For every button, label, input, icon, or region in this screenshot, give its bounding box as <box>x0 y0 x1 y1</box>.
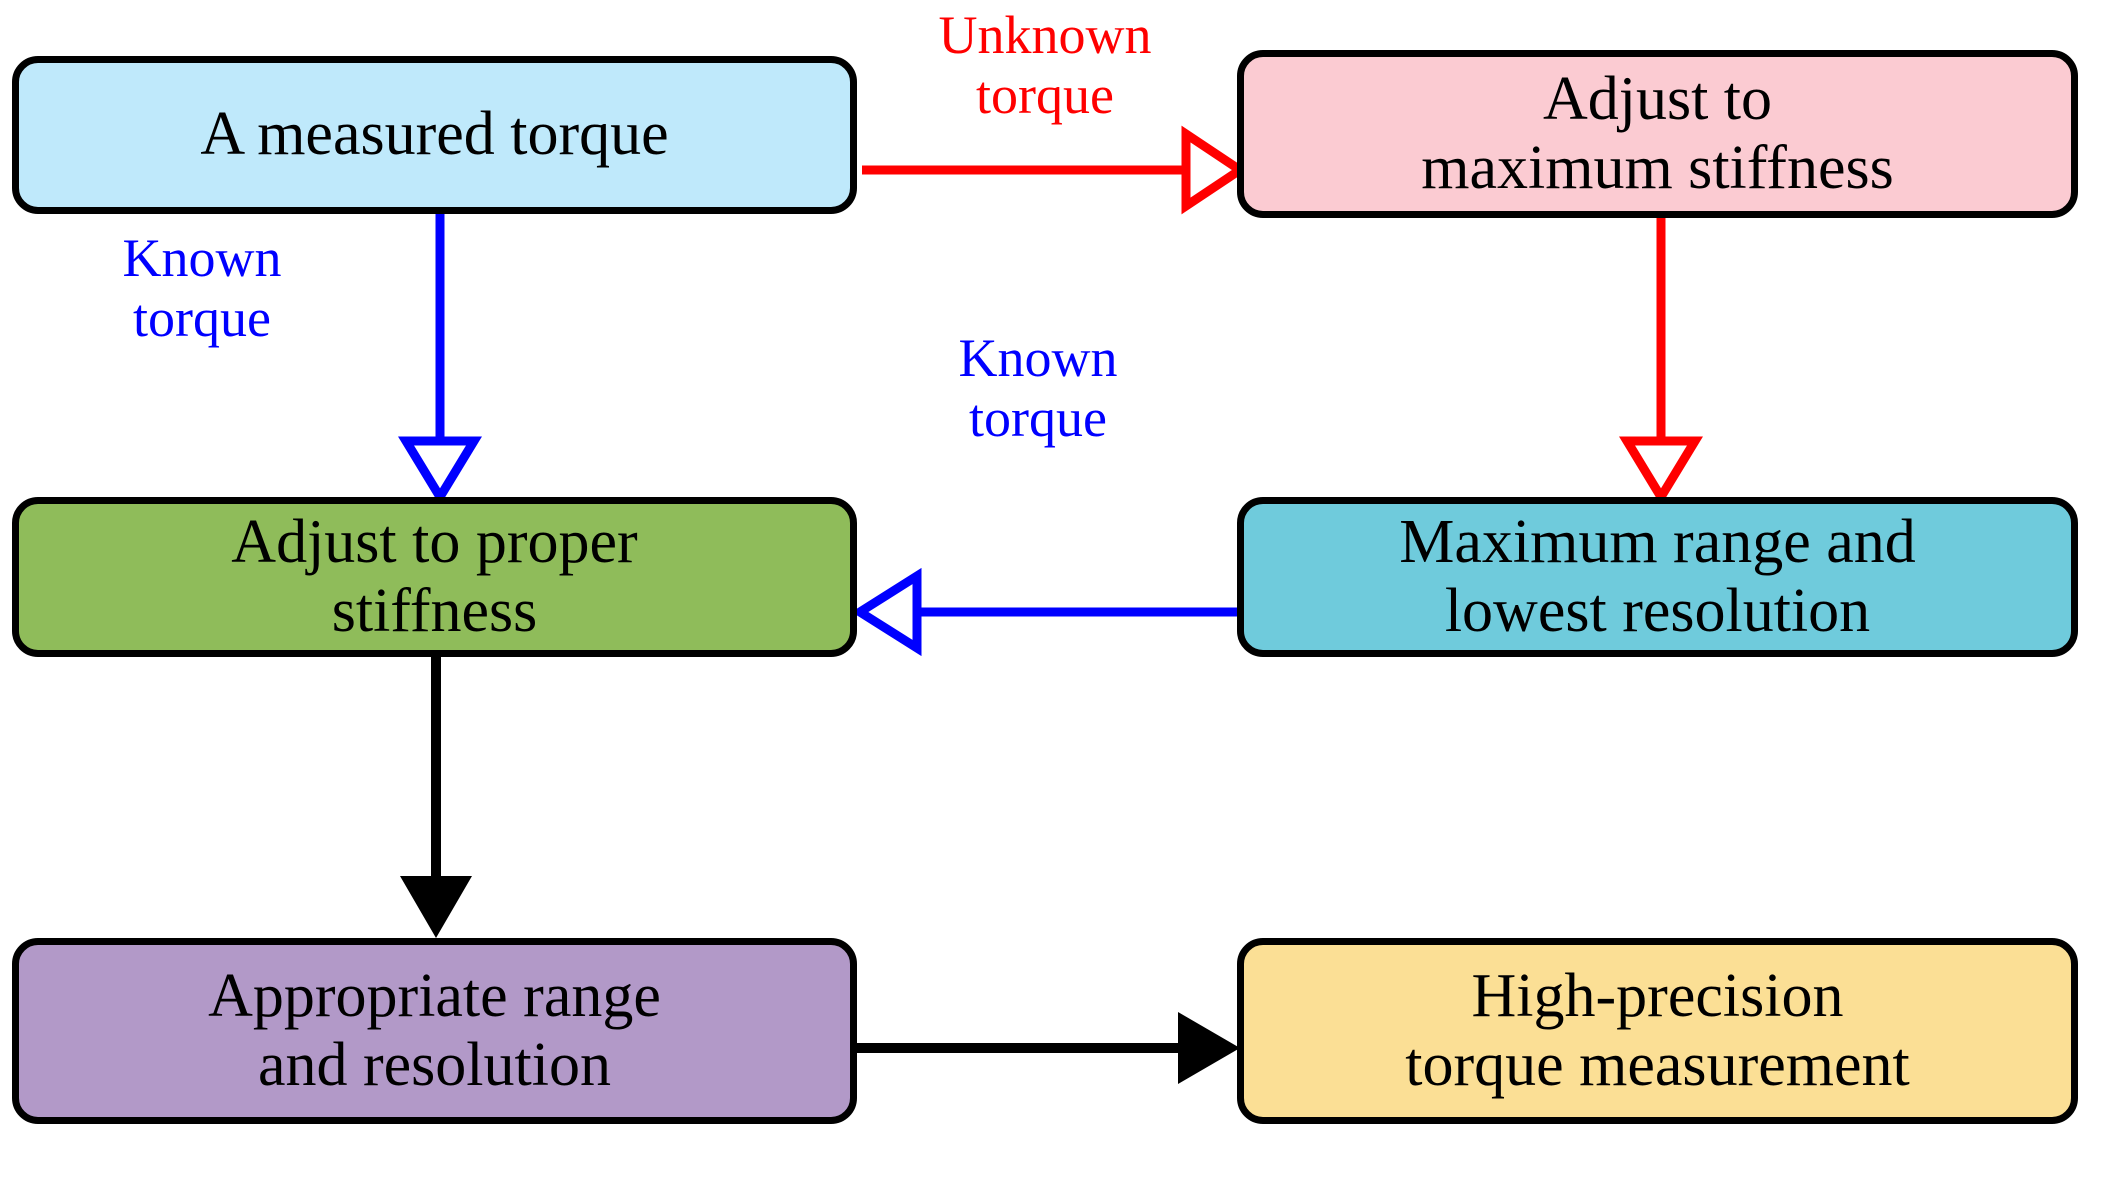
edge-unknown-torque <box>862 134 1240 206</box>
node-measured-torque[interactable]: A measured torque <box>12 56 857 214</box>
edge-known-torque-down <box>406 214 474 497</box>
edge-max-to-range <box>1627 218 1695 497</box>
edge-proper-to-appropriate <box>400 657 472 938</box>
node-appropriate-range[interactable]: Appropriate range and resolution <box>12 938 857 1124</box>
node-adjust-max-stiffness[interactable]: Adjust to maximum stiffness <box>1237 50 2078 218</box>
edge-label-known-torque-down: Known torque <box>72 228 332 349</box>
edge-label-known-torque-left: Known torque <box>888 328 1188 449</box>
edge-known-torque-left <box>860 576 1237 648</box>
edge-label-unknown-torque: Unknown torque <box>880 5 1210 126</box>
node-max-range-low-res[interactable]: Maximum range and lowest resolution <box>1237 497 2078 657</box>
node-adjust-proper-stiffness[interactable]: Adjust to proper stiffness <box>12 497 857 657</box>
node-high-precision[interactable]: High-precision torque measurement <box>1237 938 2078 1124</box>
edge-appropriate-to-high-precision <box>857 1012 1240 1084</box>
flowchart-canvas: A measured torque Adjust to maximum stif… <box>0 0 2101 1190</box>
